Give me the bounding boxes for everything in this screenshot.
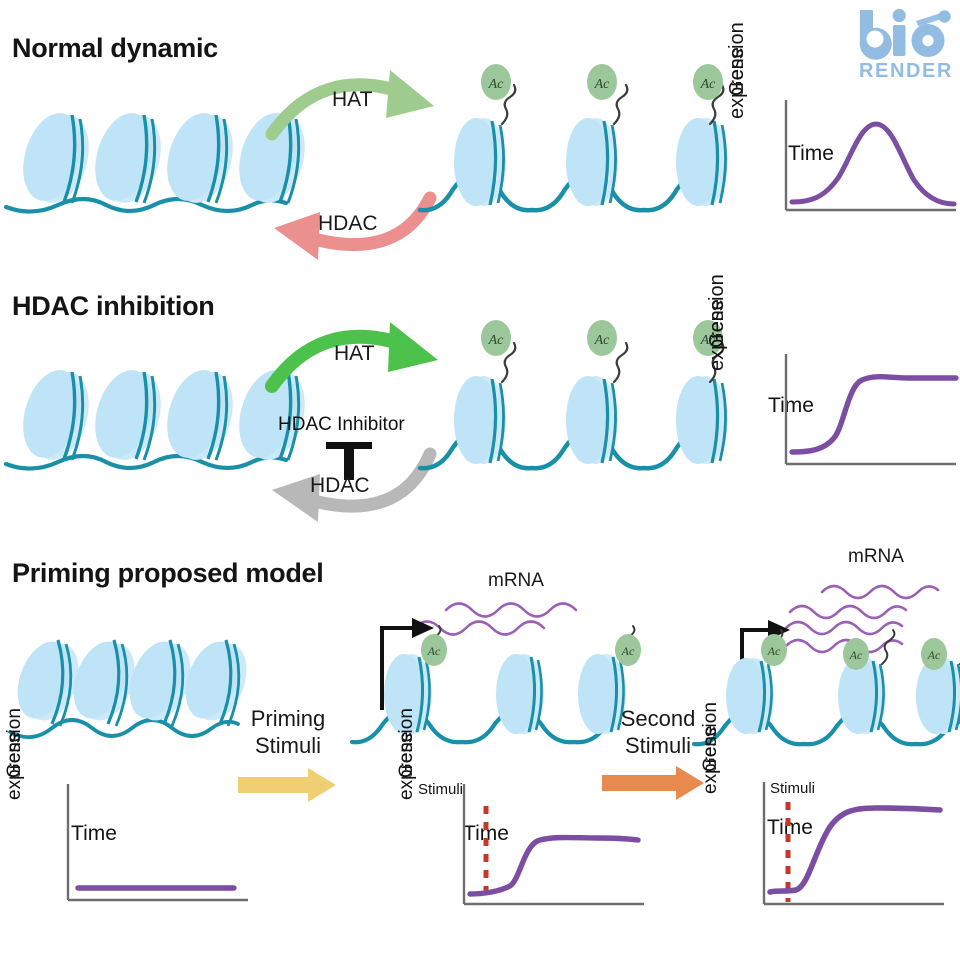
acetyl-group-icon: Ac bbox=[918, 636, 950, 672]
chart4-plot bbox=[458, 782, 644, 914]
svg-text:Ac: Ac bbox=[767, 644, 781, 658]
mrna-label-primed: mRNA bbox=[488, 570, 544, 592]
acetyl-group-icon: Ac bbox=[478, 62, 514, 102]
biorender-logo: RENDER bbox=[856, 8, 956, 90]
hdac-label-hdac: HDAC bbox=[310, 474, 370, 498]
svg-text:Ac: Ac bbox=[594, 77, 611, 92]
svg-text:Ac: Ac bbox=[849, 648, 863, 662]
row-title-normal-dynamic: Normal dynamic bbox=[12, 33, 218, 64]
priming-stimuli-label: Priming Stimuli bbox=[234, 706, 342, 760]
acetyl-group-icon: Ac bbox=[418, 632, 450, 668]
hat-label-normal: HAT bbox=[332, 88, 372, 112]
row-title-priming: Priming proposed model bbox=[12, 558, 323, 589]
svg-text:Ac: Ac bbox=[488, 333, 505, 348]
open-chromatin-hdac bbox=[420, 318, 710, 476]
acetyl-group-icon: Ac bbox=[840, 636, 872, 672]
chart-priming-first-stimuli: Gene expression Stimuli Time bbox=[396, 778, 656, 948]
open-chromatin-normal bbox=[420, 62, 710, 217]
primed-chromatin-panel bbox=[352, 592, 612, 752]
chart5-ylabel-expression: expression bbox=[700, 534, 722, 794]
row-title-hdac-inhibition: HDAC inhibition bbox=[12, 291, 214, 322]
chart-priming-second-stimuli: Gene expression Stimuli Time bbox=[700, 772, 960, 948]
hat-label-hdac: HAT bbox=[334, 342, 374, 366]
compact-chromatin-naive bbox=[6, 628, 241, 748]
chart-normal-dynamic: Gene expression Time bbox=[726, 96, 956, 246]
svg-text:Ac: Ac bbox=[594, 333, 611, 348]
figure-canvas: RENDER Normal dynamic bbox=[0, 0, 960, 960]
chart1-plot bbox=[780, 98, 956, 222]
svg-text:Ac: Ac bbox=[488, 77, 505, 92]
acetyl-group-icon: Ac bbox=[478, 318, 514, 358]
mrna-label-second: mRNA bbox=[848, 546, 904, 568]
svg-text:Ac: Ac bbox=[621, 644, 635, 658]
chart4-stimuli-annotation-label: Stimuli bbox=[418, 781, 463, 798]
chart-priming-naive: Gene expression Time bbox=[4, 778, 254, 948]
acetyl-group-icon: Ac bbox=[758, 632, 790, 668]
acetyl-group-icon: Ac bbox=[690, 62, 726, 102]
svg-text:Ac: Ac bbox=[927, 648, 941, 662]
biorender-logo-wordmark: RENDER bbox=[857, 60, 955, 83]
chart3-plot bbox=[62, 782, 248, 910]
chart2-ylabel-expression: expression bbox=[706, 121, 729, 371]
chart2-plot bbox=[780, 352, 956, 476]
chart3-ylabel-expression: expression bbox=[4, 550, 26, 800]
svg-text:Ac: Ac bbox=[427, 644, 441, 658]
chart4-ylabel-expression: expression bbox=[396, 540, 418, 800]
chart1-ylabel-expression: expression bbox=[726, 0, 749, 119]
acetyl-group-icon: Ac bbox=[584, 62, 620, 102]
hdac-inhibitor-label: HDAC Inhibitor bbox=[278, 414, 405, 436]
acetyl-group-icon: Ac bbox=[584, 318, 620, 358]
chart-hdac-inhibition: Gene expression Time bbox=[706, 348, 956, 498]
chart5-plot bbox=[758, 780, 944, 914]
priming-stimuli-line2: Stimuli bbox=[234, 733, 342, 760]
hdac-label-normal: HDAC bbox=[318, 212, 378, 236]
priming-stimuli-line1: Priming bbox=[234, 706, 342, 733]
acetyl-group-icon: Ac bbox=[612, 632, 644, 668]
svg-text:Ac: Ac bbox=[700, 77, 717, 92]
biorender-logo-mark bbox=[856, 8, 956, 60]
